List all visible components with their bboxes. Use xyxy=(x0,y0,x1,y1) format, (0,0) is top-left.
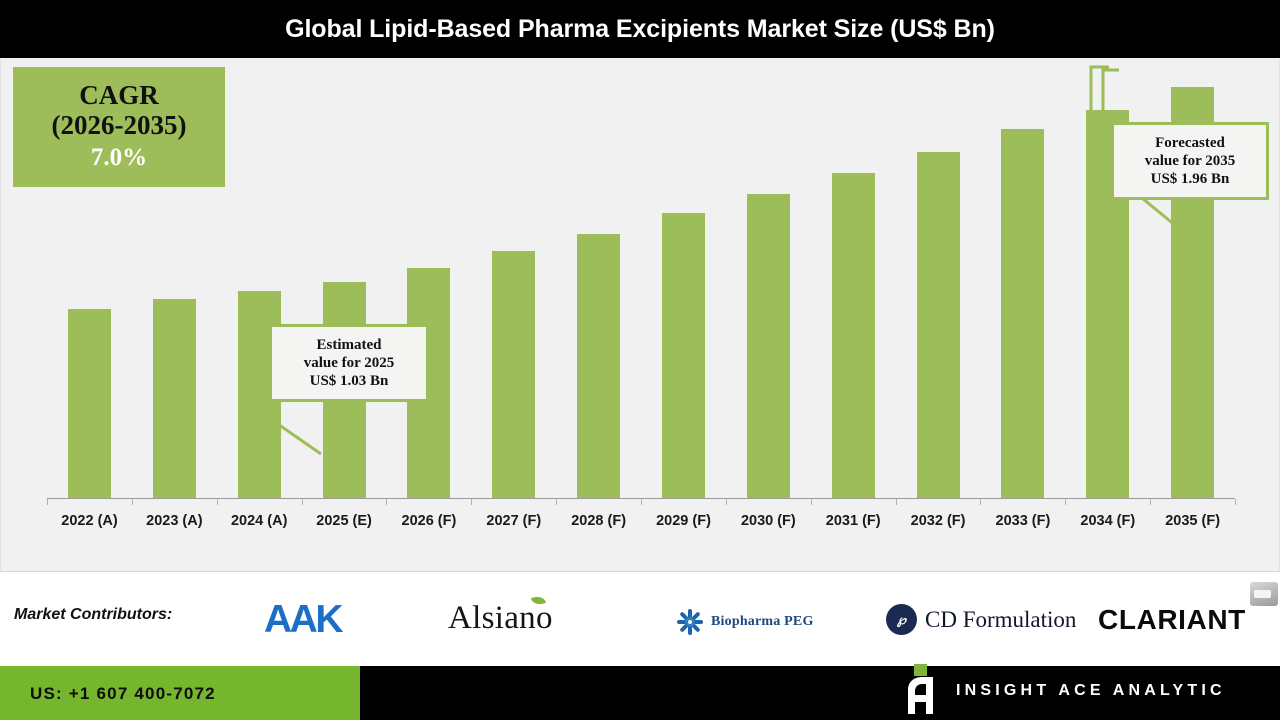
x-tick xyxy=(556,499,557,505)
page-title: Global Lipid-Based Pharma Excipients Mar… xyxy=(285,15,995,44)
x-label-2026: 2026 (F) xyxy=(386,513,471,529)
x-tick xyxy=(132,499,133,505)
x-tick xyxy=(1235,499,1236,505)
callout-forecast-line3: US$ 1.96 Bn xyxy=(1151,170,1230,188)
x-tick xyxy=(811,499,812,505)
infographic-page: Global Lipid-Based Pharma Excipients Mar… xyxy=(0,0,1280,720)
x-label-2022: 2022 (A) xyxy=(47,513,132,529)
bar-2030 xyxy=(747,194,790,498)
title-bar: Global Lipid-Based Pharma Excipients Mar… xyxy=(0,0,1280,58)
x-tick xyxy=(302,499,303,505)
brand-logo-icon xyxy=(900,664,944,714)
x-label-2023: 2023 (A) xyxy=(132,513,217,529)
contributors-label: Market Contributors: xyxy=(14,606,172,624)
logo-clariant: CLARIANT xyxy=(1098,604,1246,636)
bar-2028 xyxy=(577,234,620,498)
callout-forecast-line2: value for 2035 xyxy=(1145,152,1236,170)
bar-2022 xyxy=(68,309,111,498)
x-tick xyxy=(980,499,981,505)
x-tick xyxy=(217,499,218,505)
logo-biopharma-peg: Biopharma PEG xyxy=(676,608,814,636)
x-tick xyxy=(896,499,897,505)
brand-letter-a-icon xyxy=(906,676,938,714)
chart-panel: CAGR (2026-2035) 7.0% 2022 (A)2023 (A)20… xyxy=(0,58,1280,571)
x-label-2031: 2031 (F) xyxy=(811,513,896,529)
x-label-2034: 2034 (F) xyxy=(1065,513,1150,529)
biopharma-burst-icon xyxy=(676,608,704,636)
bar-2029 xyxy=(662,213,705,498)
bar-2027 xyxy=(492,251,535,498)
x-label-2027: 2027 (F) xyxy=(471,513,556,529)
bar-2033 xyxy=(1001,129,1044,498)
x-tick xyxy=(641,499,642,505)
logo-alsiano-text: Alsiano xyxy=(448,600,553,637)
x-label-2035: 2035 (F) xyxy=(1150,513,1235,529)
x-label-2029: 2029 (F) xyxy=(641,513,726,529)
callout-forecast-line1: Forecasted xyxy=(1155,134,1225,152)
bar-2032 xyxy=(917,152,960,498)
x-tick xyxy=(47,499,48,505)
x-label-2033: 2033 (F) xyxy=(980,513,1065,529)
callout-estimated-line2: value for 2025 xyxy=(304,354,395,372)
brand-square-icon xyxy=(914,664,927,676)
bar-2023 xyxy=(153,299,196,498)
callout-estimated-2025: Estimated value for 2025 US$ 1.03 Bn xyxy=(269,324,429,402)
logo-biopharma-text: Biopharma PEG xyxy=(711,614,814,630)
clariant-square-icon xyxy=(1250,582,1278,606)
x-tick xyxy=(471,499,472,505)
bar-plot-area xyxy=(47,58,1235,498)
logo-cd-formulation: ℘ CD Formulation xyxy=(886,604,1076,635)
callout-estimated-line1: Estimated xyxy=(317,336,382,354)
x-tick xyxy=(1150,499,1151,505)
x-axis-labels: 2022 (A)2023 (A)2024 (A)2025 (E)2026 (F)… xyxy=(47,513,1235,543)
x-label-2025: 2025 (E) xyxy=(302,513,387,529)
x-label-2024: 2024 (A) xyxy=(217,513,302,529)
logo-clariant-text: CLARIANT xyxy=(1098,604,1246,636)
logo-alsiano: Alsiano xyxy=(448,600,553,637)
x-tick xyxy=(386,499,387,505)
contributors-strip: Market Contributors: AAK Alsiano Biophar… xyxy=(0,571,1280,666)
brand-name: INSIGHT ACE ANALYTIC xyxy=(956,682,1226,700)
x-tick xyxy=(726,499,727,505)
callout-estimated-line3: US$ 1.03 Bn xyxy=(310,372,389,390)
x-tick xyxy=(1065,499,1066,505)
footer-phone: US: +1 607 400-7072 xyxy=(30,684,216,704)
x-label-2030: 2030 (F) xyxy=(726,513,811,529)
cd-emblem-icon: ℘ xyxy=(886,604,917,635)
x-label-2032: 2032 (F) xyxy=(896,513,981,529)
logo-aak-text: AAK xyxy=(264,598,341,642)
x-label-2028: 2028 (F) xyxy=(556,513,641,529)
bar-2031 xyxy=(832,173,875,498)
callout-forecast-2035: Forecasted value for 2035 US$ 1.96 Bn xyxy=(1111,122,1269,200)
logo-aak: AAK xyxy=(264,598,341,642)
logo-cd-text: CD Formulation xyxy=(925,607,1076,633)
